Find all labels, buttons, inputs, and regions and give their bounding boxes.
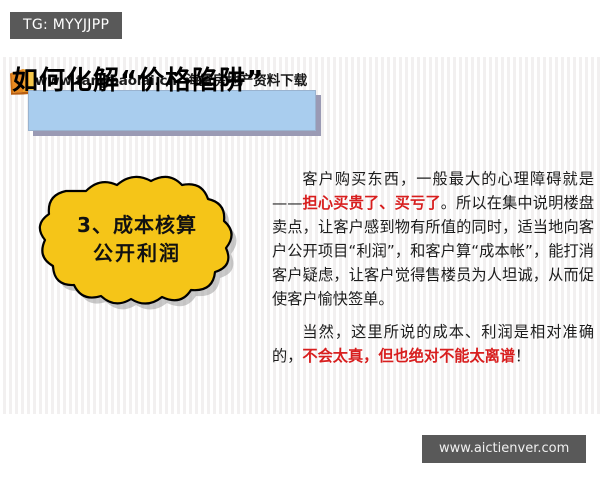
cloud-line-1: 3、成本核算 — [18, 211, 256, 239]
slide-canvas: www.fangbaolai.cn海量房地产资料下载 如何化解“价格陷阱” 3、… — [0, 57, 600, 414]
slide-title: 如何化解“价格陷阱” — [12, 60, 264, 97]
cloud-callout-label: 3、成本核算 公开利润 — [18, 211, 256, 268]
body-text: ！ — [515, 347, 530, 365]
paragraph: 当然，这里所说的成本、利润是相对准确的，不会太真，但也绝对不能太离谱！ — [272, 320, 594, 368]
cloud-line-2: 公开利润 — [18, 239, 256, 267]
paragraph: 客户购买东西，一般最大的心理障碍就是——担心买贵了、买亏了。所以在集中说明楼盘卖… — [272, 167, 594, 311]
tg-watermark-badge: TG: MYYJJPP — [10, 12, 122, 39]
body-copy: 客户购买东西，一般最大的心理障碍就是——担心买贵了、买亏了。所以在集中说明楼盘卖… — [272, 167, 594, 368]
cloud-callout: 3、成本核算 公开利润 — [18, 175, 264, 315]
highlighted-text: 担心买贵了、买亏了 — [302, 194, 440, 212]
site-watermark-badge: www.aictienver.com — [422, 435, 586, 463]
highlighted-text: 不会太真，但也绝对不能太离谱 — [302, 347, 515, 365]
